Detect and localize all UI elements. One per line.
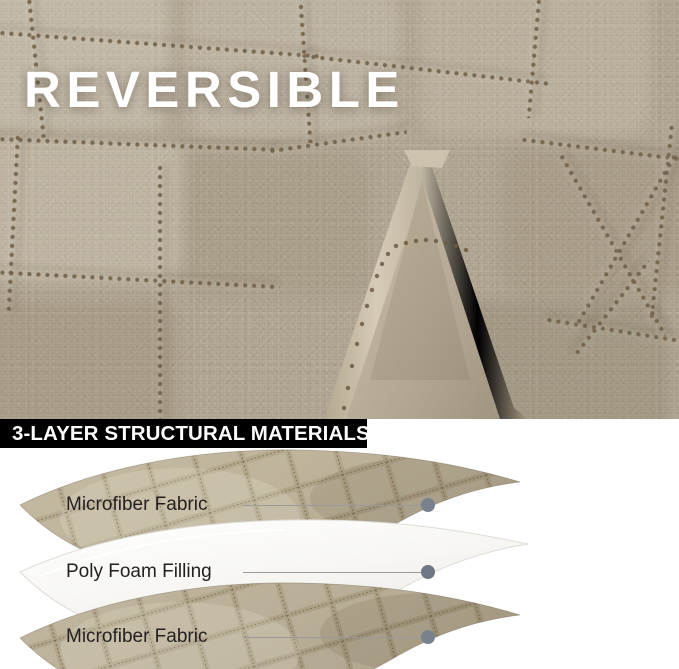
layer-label-1: Microfiber Fabric (66, 494, 207, 516)
layer-label-3: Microfiber Fabric (66, 626, 207, 648)
infographic-page: REVERSIBLE 3-LAYER STRUCTURAL MATERIALS (0, 0, 679, 669)
flap-shape (300, 150, 530, 419)
leader-dot-3 (421, 630, 435, 644)
product-photo: REVERSIBLE (0, 0, 679, 419)
folded-fabric-flap (300, 150, 530, 419)
section-banner: 3-LAYER STRUCTURAL MATERIALS (0, 419, 367, 448)
quilt-stitch-seam (157, 164, 164, 420)
leader-dot-1 (421, 498, 435, 512)
leader-line-2 (243, 572, 423, 573)
layer-diagram: Microfiber Fabric Poly Foam Filling Micr… (0, 448, 679, 669)
section-banner-label: 3-LAYER STRUCTURAL MATERIALS (12, 422, 370, 446)
layer-label-2: Poly Foam Filling (66, 561, 212, 583)
leader-line-1 (243, 505, 423, 506)
quilt-puff (0, 300, 180, 419)
leader-line-3 (243, 637, 423, 638)
page-title: REVERSIBLE (24, 64, 405, 115)
leader-dot-2 (421, 565, 435, 579)
